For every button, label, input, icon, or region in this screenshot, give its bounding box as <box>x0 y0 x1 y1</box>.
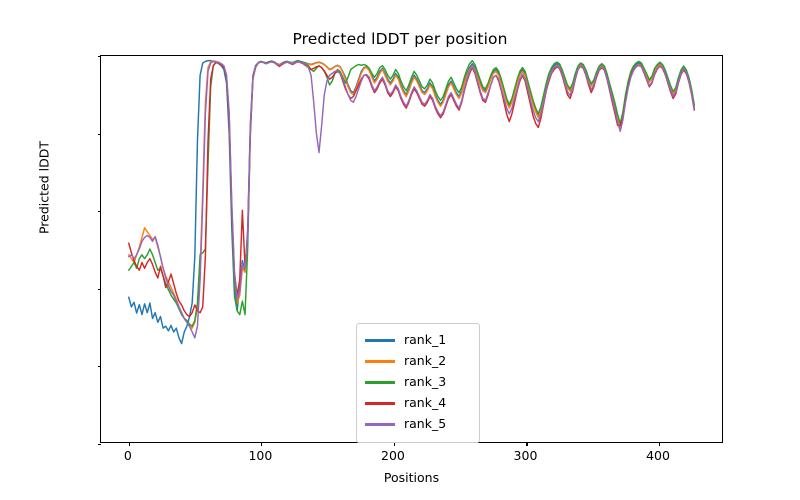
x-tick-label: 100 <box>230 448 290 463</box>
y-axis-label: Predicted lDDT <box>37 108 52 268</box>
legend-color-swatch <box>365 402 395 404</box>
legend-color-swatch <box>365 360 395 362</box>
legend-label: rank_5 <box>404 418 446 431</box>
y-tick-mark <box>98 56 102 57</box>
y-tick-mark <box>98 289 102 290</box>
x-tick-label: 300 <box>495 448 555 463</box>
y-tick-mark <box>98 366 102 367</box>
x-tick-mark <box>659 442 660 446</box>
legend-item-rank_5[interactable]: rank_5 <box>365 414 471 435</box>
legend-item-rank_3[interactable]: rank_3 <box>365 372 471 393</box>
legend-label: rank_3 <box>404 376 446 389</box>
matplotlib-figure: Predicted lDDT per position Predicted lD… <box>0 0 800 500</box>
series-line-rank_4 <box>129 62 695 317</box>
x-tick-mark <box>261 442 262 446</box>
legend-label: rank_2 <box>404 355 446 368</box>
x-tick-mark <box>526 442 527 446</box>
legend-color-swatch <box>365 339 395 341</box>
x-axis-label: Positions <box>100 470 723 485</box>
legend-color-swatch <box>365 381 395 383</box>
legend-item-rank_4[interactable]: rank_4 <box>365 393 471 414</box>
y-tick-mark <box>98 211 102 212</box>
series-line-rank_5 <box>129 61 695 337</box>
legend-item-rank_2[interactable]: rank_2 <box>365 351 471 372</box>
legend-color-swatch <box>365 423 395 425</box>
series-line-rank_3 <box>129 61 695 327</box>
x-tick-label: 400 <box>628 448 688 463</box>
x-tick-mark <box>129 442 130 446</box>
legend-label: rank_4 <box>404 397 446 410</box>
chart-title: Predicted lDDT per position <box>0 30 800 48</box>
y-tick-mark <box>98 444 102 445</box>
y-tick-mark <box>98 134 102 135</box>
x-tick-label: 0 <box>98 448 158 463</box>
x-tick-label: 200 <box>363 448 423 463</box>
series-line-rank_2 <box>129 61 695 328</box>
series-line-rank_1 <box>129 61 695 344</box>
legend-item-rank_1[interactable]: rank_1 <box>365 330 471 351</box>
chart-legend: rank_1rank_2rank_3rank_4rank_5 <box>356 323 480 443</box>
legend-label: rank_1 <box>404 334 446 347</box>
